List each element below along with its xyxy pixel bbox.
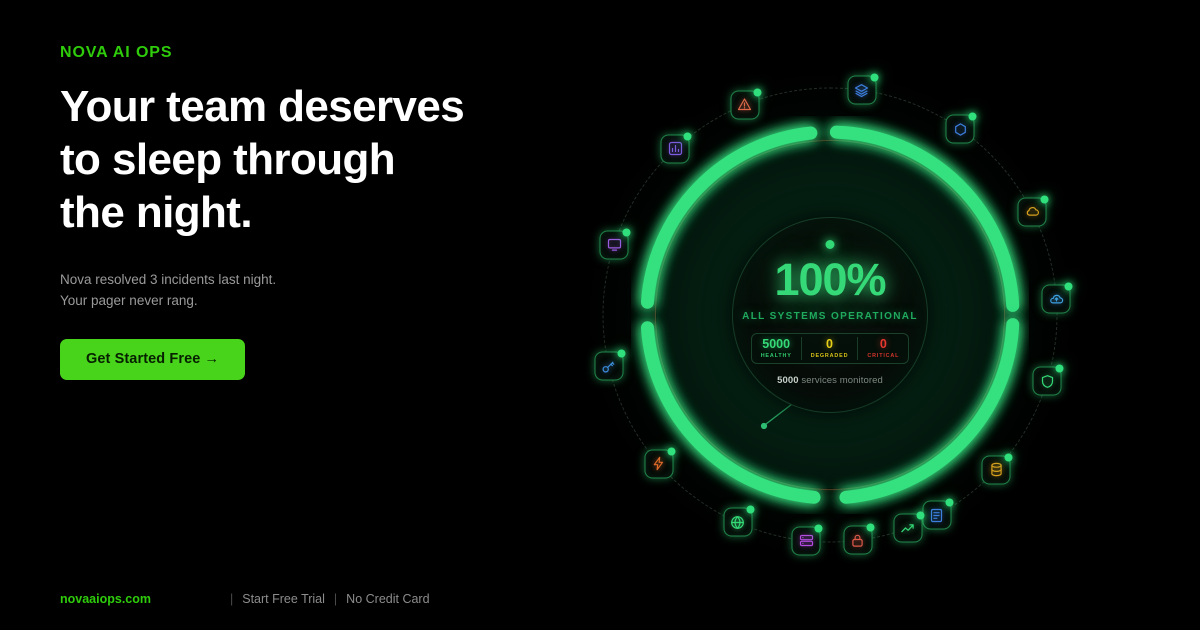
uptime-percent: 100% <box>774 257 885 302</box>
status-pip <box>1056 365 1064 373</box>
footer-links: | Start Free Trial | No Credit Card <box>221 592 430 606</box>
globe-icon[interactable] <box>723 508 752 537</box>
headline-line-1: Your team deserves <box>60 80 580 133</box>
monitor-icon[interactable] <box>600 230 629 259</box>
hero-copy: NOVA AI OPS Your team deserves to sleep … <box>60 44 580 380</box>
footer-link-start-free-trial[interactable]: Start Free Trial <box>242 592 325 606</box>
footer: novaaiops.com | Start Free Trial | No Cr… <box>60 592 430 606</box>
footer-separator-2: | <box>334 592 337 606</box>
cloud-upload-icon[interactable] <box>1042 285 1071 314</box>
shield-icon[interactable] <box>1033 367 1062 396</box>
stat-label: CRITICAL <box>867 353 899 359</box>
status-pip <box>623 228 631 236</box>
lock-icon[interactable] <box>843 526 872 555</box>
status-pip <box>969 113 977 121</box>
status-pip <box>1065 283 1073 291</box>
status-pip <box>684 132 692 140</box>
stat-value: 0 <box>867 338 899 351</box>
status-pip <box>753 88 761 96</box>
hero-canvas: NOVA AI OPS Your team deserves to sleep … <box>0 0 1200 630</box>
headline-line-2: to sleep through <box>60 133 580 186</box>
headline-line-3: the night. <box>60 186 580 239</box>
status-pip <box>746 506 754 514</box>
trending-up-icon[interactable] <box>893 514 922 543</box>
page-title: Your team deserves to sleep through the … <box>60 80 580 239</box>
status-pip <box>667 447 675 455</box>
brand-eyebrow: NOVA AI OPS <box>60 44 580 62</box>
stat-degraded: 0DEGRADED <box>801 337 858 360</box>
hero-subtext: Nova resolved 3 incidents last night. Yo… <box>60 269 580 311</box>
status-pip <box>815 524 823 532</box>
stat-label: HEALTHY <box>761 353 792 359</box>
footer-separator-1: | <box>230 592 233 606</box>
stat-healthy: 5000HEALTHY <box>752 337 801 360</box>
systems-status-label: ALL SYSTEMS OPERATIONAL <box>742 311 918 322</box>
services-monitored-count: 5000 <box>777 375 799 386</box>
cloud-icon[interactable] <box>1018 197 1047 226</box>
stat-value: 0 <box>811 338 849 351</box>
status-pip <box>916 512 924 520</box>
lightning-icon[interactable] <box>644 449 673 478</box>
status-pip <box>866 524 874 532</box>
status-disc: 100% ALL SYSTEMS OPERATIONAL 5000HEALTHY… <box>732 217 928 413</box>
key-icon[interactable] <box>594 352 623 381</box>
status-pip <box>945 499 953 507</box>
services-monitored-label: services monitored <box>799 375 883 386</box>
layers-icon[interactable] <box>847 76 876 105</box>
server-doc-icon[interactable] <box>922 501 951 530</box>
stat-value: 5000 <box>761 338 792 351</box>
server-rack-icon[interactable] <box>792 526 821 555</box>
status-core: 100% ALL SYSTEMS OPERATIONAL 5000HEALTHY… <box>733 218 927 412</box>
subtext-line-2: Your pager never rang. <box>60 290 580 311</box>
database-icon[interactable] <box>982 455 1011 484</box>
hexagon-icon[interactable] <box>946 115 975 144</box>
footer-site-link[interactable]: novaaiops.com <box>60 592 151 606</box>
services-monitored: 5000 services monitored <box>777 375 883 386</box>
warning-icon[interactable] <box>730 90 759 119</box>
status-pip <box>617 350 625 358</box>
status-pip <box>1041 195 1049 203</box>
stat-critical: 0CRITICAL <box>857 337 908 360</box>
status-pip <box>870 74 878 82</box>
status-pip <box>1005 453 1013 461</box>
get-started-button[interactable]: Get Started Free → <box>60 339 245 380</box>
status-visualization: 100% ALL SYSTEMS OPERATIONAL 5000HEALTHY… <box>540 25 1120 605</box>
bar-chart-icon[interactable] <box>661 134 690 163</box>
status-breakdown: 5000HEALTHY0DEGRADED0CRITICAL <box>751 333 910 364</box>
subtext-line-1: Nova resolved 3 incidents last night. <box>60 269 580 290</box>
footer-link-no-credit-card[interactable]: No Credit Card <box>346 592 429 606</box>
stat-label: DEGRADED <box>811 353 849 359</box>
